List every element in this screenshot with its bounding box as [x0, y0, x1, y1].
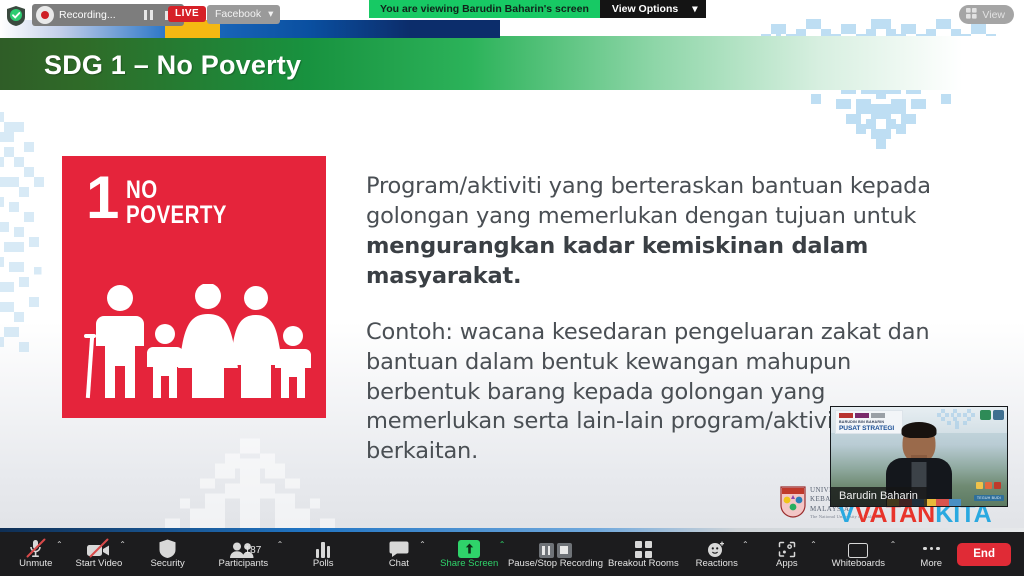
toolbar-label-participants: Participants [218, 559, 268, 569]
recording-dot-icon [36, 6, 54, 24]
chevron-up-icon[interactable]: ⌃ [119, 541, 126, 549]
background-bottom-right-badge: TEGUH BUDI [974, 495, 1004, 501]
more-ellipsis-icon [923, 539, 940, 558]
toolbar-item-whiteboards[interactable]: Whiteboards ⌃ [832, 532, 884, 576]
chevron-up-icon[interactable]: ⌃ [56, 541, 63, 549]
livestream-platform-label: Facebook [215, 8, 261, 20]
background-badge-2-icon [993, 410, 1004, 420]
livestream-platform-dropdown[interactable]: Facebook ▾ [207, 5, 280, 24]
nameplate-logo-2-icon [855, 413, 869, 418]
toolbar-item-pause-stop-recording[interactable]: Pause/Stop Recording [516, 532, 594, 576]
shield-icon [159, 539, 176, 558]
toolbar-label-breakout-rooms: Breakout Rooms [608, 559, 679, 569]
encryption-shield-icon[interactable] [6, 5, 26, 27]
toolbar-item-polls[interactable]: Polls [297, 532, 349, 576]
toolbar-label-pause-stop-recording: Pause/Stop Recording [508, 559, 603, 569]
video-background-badges [980, 410, 1004, 420]
viewing-screen-notice: You are viewing Barudin Baharin's screen [369, 0, 600, 18]
toolbar-label-start-video: Start Video [75, 559, 122, 569]
breakout-rooms-grid-icon [635, 539, 652, 558]
video-camera-off-icon [87, 539, 110, 558]
toolbar-label-whiteboards: Whiteboards [832, 559, 885, 569]
background-icon-3 [994, 482, 1001, 489]
chevron-up-icon[interactable]: ⌃ [890, 541, 897, 549]
decorative-pixel-motif-left [0, 112, 64, 362]
chevron-up-icon[interactable]: ⌃ [419, 541, 426, 549]
toolbar-label-apps: Apps [776, 559, 798, 569]
whiteboard-icon [848, 539, 868, 558]
poll-bars-icon [316, 539, 331, 558]
toolbar-item-unmute[interactable]: Unmute ⌃ [10, 532, 62, 576]
toolbar-item-share-screen[interactable]: Share Screen ⌃ [443, 532, 495, 576]
video-background-icon-row [976, 482, 1001, 489]
background-badge-1-icon [980, 410, 991, 420]
chevron-up-icon[interactable]: ⌃ [742, 541, 749, 549]
toolbar-item-more[interactable]: More [905, 532, 957, 576]
pause-icon [539, 543, 554, 558]
self-video-thumbnail[interactable]: BARUDIN BIN BAHARIN PUSAT STRATEGI [830, 406, 1008, 507]
sdg-goal-name-line1: NO [126, 178, 227, 203]
toolbar-label-chat: Chat [389, 559, 409, 569]
toolbar-label-share-screen: Share Screen [440, 559, 498, 569]
toolbar-item-security[interactable]: Security [142, 532, 194, 576]
chevron-up-icon[interactable]: ⌃ [499, 541, 506, 549]
person-hair [902, 422, 937, 438]
sdg-number: 1 [86, 172, 119, 223]
toolbar-item-reactions[interactable]: Reactions ⌃ [691, 532, 743, 576]
stop-icon [557, 543, 572, 558]
slide-paragraph-1: Program/aktiviti yang berteraskan bantua… [366, 172, 966, 292]
sdg1-goal-tile: 1 NO POVERTY [62, 156, 326, 418]
participants-icon: 187 [230, 539, 256, 558]
toolbar-label-reactions: Reactions [696, 559, 738, 569]
toolbar-item-breakout-rooms[interactable]: Breakout Rooms [613, 532, 674, 576]
sdg-goal-name-line2: POVERTY [126, 203, 227, 228]
toolbar-label-more: More [920, 559, 942, 569]
reactions-smiley-icon [707, 539, 726, 558]
view-options-dropdown[interactable]: View Options ▾ [600, 0, 707, 18]
toolbar-item-start-video[interactable]: Start Video ⌃ [73, 532, 125, 576]
toolbar-label-security: Security [150, 559, 184, 569]
recording-indicator: Recording... [32, 4, 184, 26]
chat-bubble-icon [389, 539, 409, 558]
nameplate-logos [839, 413, 885, 418]
participants-count: 187 [245, 545, 262, 556]
meeting-toolbar: Unmute ⌃ Start Video ⌃ Security [0, 532, 1024, 576]
recording-label: Recording... [59, 9, 116, 21]
toolbar-item-participants[interactable]: 187 Participants ⌃ [217, 532, 269, 576]
participant-name-label: Barudin Baharin [831, 487, 927, 506]
ukm-crest-icon [780, 486, 806, 523]
sdg-goal-name: NO POVERTY [126, 178, 227, 228]
chevron-up-icon[interactable]: ⌃ [810, 541, 817, 549]
screen-share-notice-bar: You are viewing Barudin Baharin's screen… [369, 0, 706, 18]
pause-stop-recording-icon [539, 539, 572, 558]
background-icon-2 [985, 482, 992, 489]
chevron-down-icon: ▾ [692, 3, 697, 15]
share-screen-up-arrow-icon [458, 539, 480, 558]
nameplate-logo-3-icon [871, 413, 885, 418]
live-badge: LIVE [168, 6, 206, 22]
apps-icon [778, 539, 796, 558]
chevron-down-icon: ▾ [268, 8, 273, 20]
toolbar-label-polls: Polls [313, 559, 334, 569]
slide-paragraph-1-bold: mengurangkan kadar kemiskinan dalam masy… [366, 233, 868, 289]
nameplate-title: BARUDIN BIN BAHARIN [839, 420, 884, 424]
pause-recording-button[interactable] [141, 8, 156, 23]
chevron-up-icon[interactable]: ⌃ [277, 541, 284, 549]
nameplate-logo-1-icon [839, 413, 853, 418]
toolbar-label-unmute: Unmute [19, 559, 52, 569]
end-meeting-button[interactable]: End [957, 543, 1011, 566]
sdg-people-pictogram-icon [80, 284, 312, 400]
grid-view-icon [966, 6, 977, 24]
decorative-pixel-motif-bottom [150, 438, 360, 532]
microphone-muted-icon [28, 539, 43, 558]
background-icon-1 [976, 482, 983, 489]
toolbar-item-chat[interactable]: Chat ⌃ [373, 532, 425, 576]
zoom-meeting-window: SDG 1 – No Poverty 1 NO POVERTY [0, 0, 1024, 576]
toolbar-item-apps[interactable]: Apps ⌃ [761, 532, 813, 576]
view-options-label: View Options [612, 3, 678, 15]
view-layout-button[interactable]: View [959, 5, 1014, 24]
view-layout-label: View [982, 9, 1005, 21]
slide-paragraph-1-normal: Program/aktiviti yang berteraskan bantua… [366, 173, 931, 229]
page-title: SDG 1 – No Poverty [44, 50, 301, 81]
